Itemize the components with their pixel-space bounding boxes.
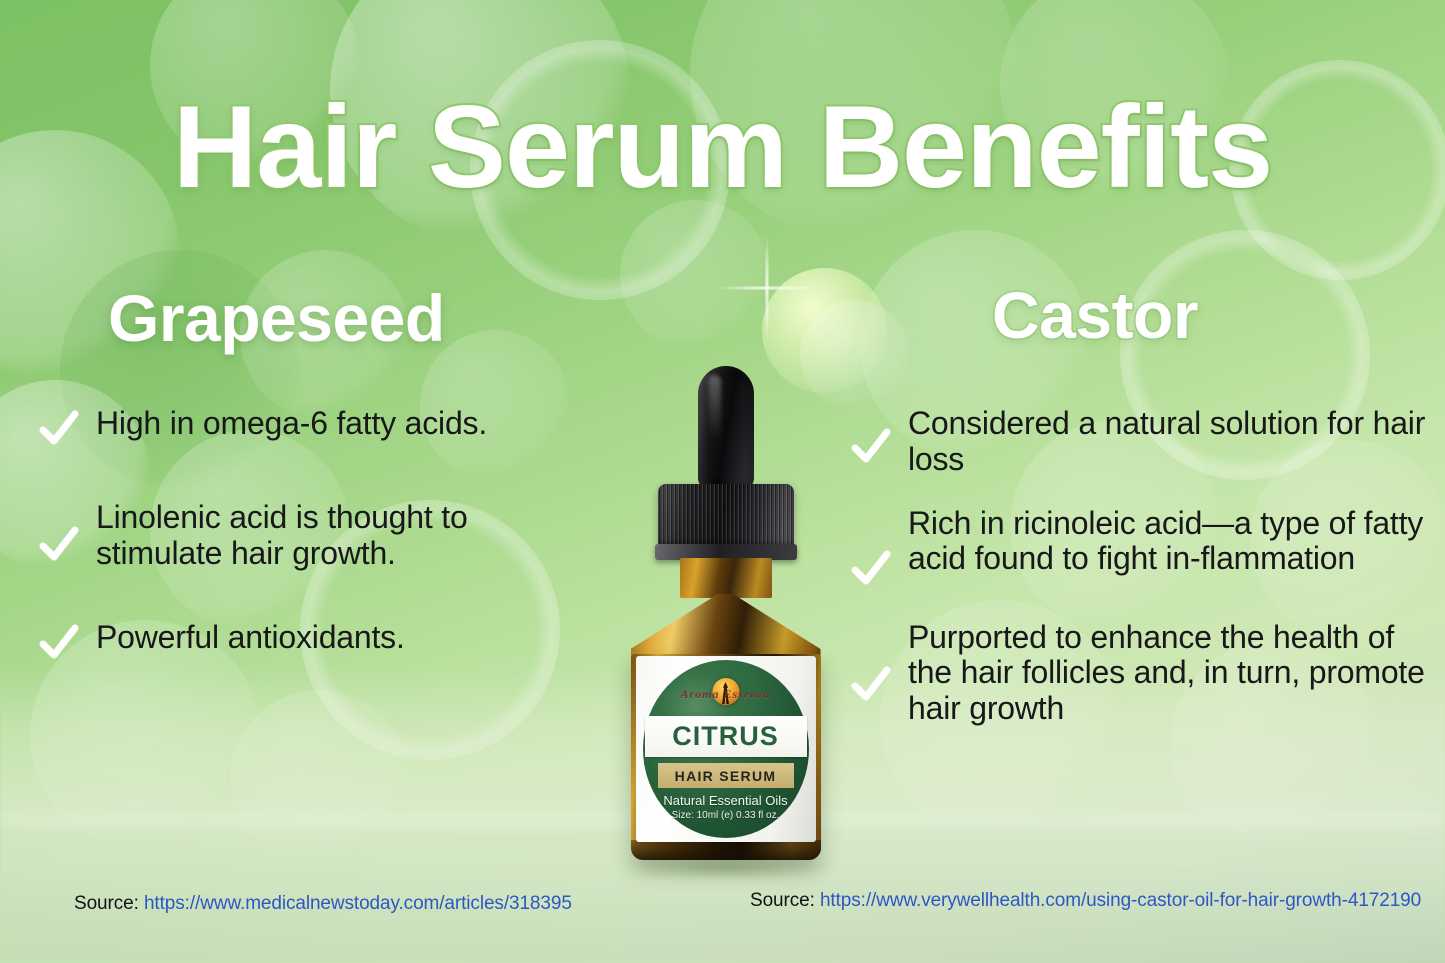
page-title: Hair Serum Benefits xyxy=(0,86,1445,209)
serum-bottle-image: Aroma Essenza CITRUS HAIR SERUM Natural … xyxy=(618,366,833,866)
list-item: High in omega-6 fatty acids. xyxy=(36,404,596,452)
brand-script-label: Aroma Essenza xyxy=(661,687,791,702)
checkmark-icon xyxy=(848,424,894,470)
product-name-band: CITRUS xyxy=(645,716,807,757)
product-name: CITRUS xyxy=(672,723,779,750)
heading-grapeseed: Grapeseed xyxy=(108,285,445,351)
castor-benefit-list: Considered a natural solution for hair l… xyxy=(848,404,1428,753)
checkmark-icon xyxy=(36,406,82,452)
list-item: Rich in ricinoleic acid—a type of fatty … xyxy=(848,504,1428,592)
list-item: Considered a natural solution for hair l… xyxy=(848,404,1428,478)
checkmark-icon xyxy=(36,620,82,666)
product-descriptor: Natural Essential Oils xyxy=(636,794,816,808)
list-item-label: Powerful antioxidants. xyxy=(96,618,405,656)
list-item-label: Rich in ricinoleic acid—a type of fatty … xyxy=(908,504,1428,578)
list-item-label: Considered a natural solution for hair l… xyxy=(908,404,1428,478)
source-link[interactable]: https://www.verywellhealth.com/using-cas… xyxy=(820,890,1421,911)
checkmark-icon xyxy=(36,522,82,568)
bottle-base xyxy=(631,840,821,860)
dropper-cap xyxy=(658,484,794,550)
bokeh-circle xyxy=(620,200,770,350)
product-label: Aroma Essenza CITRUS HAIR SERUM Natural … xyxy=(636,656,816,842)
list-item: Powerful antioxidants. xyxy=(36,618,596,666)
grapeseed-benefit-list: High in omega-6 fatty acids. Linolenic a… xyxy=(36,404,596,712)
list-item-label: Linolenic acid is thought to stimulate h… xyxy=(96,498,596,572)
dropper-bulb xyxy=(698,366,754,490)
product-type-band: HAIR SERUM xyxy=(658,763,794,788)
source-grapeseed: Source: https://www.medicalnewstoday.com… xyxy=(74,893,572,915)
bottle-shoulder xyxy=(631,594,821,658)
list-item-label: High in omega-6 fatty acids. xyxy=(96,404,487,442)
checkmark-icon xyxy=(848,546,894,592)
source-castor: Source: https://www.verywellhealth.com/u… xyxy=(750,890,1421,912)
heading-castor: Castor xyxy=(992,282,1198,348)
source-link[interactable]: https://www.medicalnewstoday.com/article… xyxy=(144,893,572,914)
source-label: Source: xyxy=(750,890,815,911)
list-item-label: Purported to enhance the health of the h… xyxy=(908,618,1428,727)
checkmark-icon xyxy=(848,662,894,708)
list-item: Linolenic acid is thought to stimulate h… xyxy=(36,498,596,572)
infographic-canvas: Hair Serum Benefits Grapeseed Castor Hig… xyxy=(0,0,1445,963)
bottle-neck xyxy=(680,558,772,598)
list-item: Purported to enhance the health of the h… xyxy=(848,618,1428,727)
product-type: HAIR SERUM xyxy=(675,769,777,783)
product-size: Size: 10ml (e) 0.33 fl oz. xyxy=(636,810,816,821)
source-label: Source: xyxy=(74,893,139,914)
brand-logo-icon: Aroma Essenza xyxy=(661,678,791,708)
